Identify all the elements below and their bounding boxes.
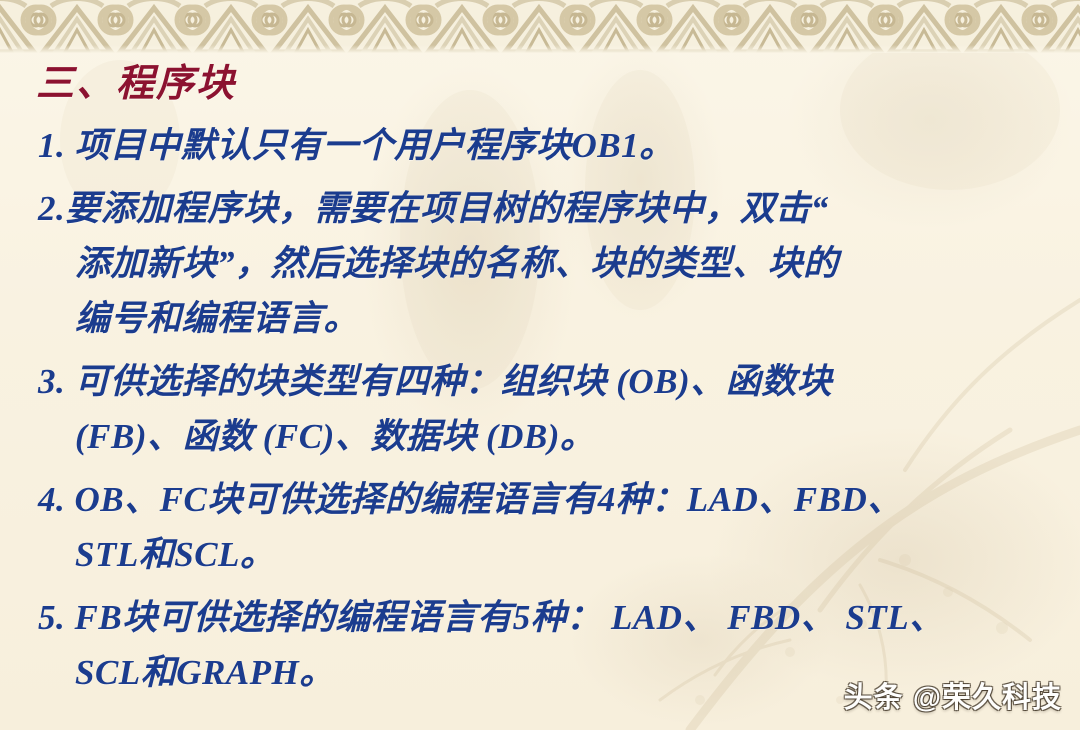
- content-list: 1. 项目中默认只有一个用户程序块OB1。 2.要添加程序块，需要在项目树的程序…: [30, 118, 1050, 708]
- header-ornament-band: [0, 0, 1080, 53]
- list-item-line: (FB)、函数 (FC)、数据块 (DB)。: [30, 409, 1050, 464]
- list-item-line: 5. FB块可供选择的编程语言有5种： LAD、 FBD、 STL、: [30, 590, 1050, 645]
- list-item: 2.要添加程序块，需要在项目树的程序块中，双击“ 添加新块”，然后选择块的名称、…: [30, 181, 1050, 346]
- knotwork-pattern-icon: [0, 0, 1080, 53]
- list-item-line: 3. 可供选择的块类型有四种：组织块 (OB)、函数块: [30, 354, 1050, 409]
- list-item: 4. OB、FC块可供选择的编程语言有4种：LAD、FBD、 STL和SCL。: [30, 472, 1050, 582]
- list-item: 3. 可供选择的块类型有四种：组织块 (OB)、函数块 (FB)、函数 (FC)…: [30, 354, 1050, 464]
- list-item-line: 编号和编程语言。: [30, 291, 1050, 346]
- list-item-line: 4. OB、FC块可供选择的编程语言有4种：LAD、FBD、: [30, 472, 1050, 527]
- slide-canvas: 三、程序块 1. 项目中默认只有一个用户程序块OB1。 2.要添加程序块，需要在…: [0, 0, 1080, 730]
- watermark-label: 头条 @荣久科技: [844, 674, 1062, 716]
- list-item: 1. 项目中默认只有一个用户程序块OB1。: [30, 118, 1050, 173]
- list-item-line: 添加新块”，然后选择块的名称、块的类型、块的: [30, 236, 1050, 291]
- list-item-line: 2.要添加程序块，需要在项目树的程序块中，双击“: [30, 181, 1050, 236]
- list-item-line: 1. 项目中默认只有一个用户程序块OB1。: [30, 118, 1050, 173]
- page-title: 三、程序块: [36, 52, 236, 107]
- list-item-line: STL和SCL。: [30, 527, 1050, 582]
